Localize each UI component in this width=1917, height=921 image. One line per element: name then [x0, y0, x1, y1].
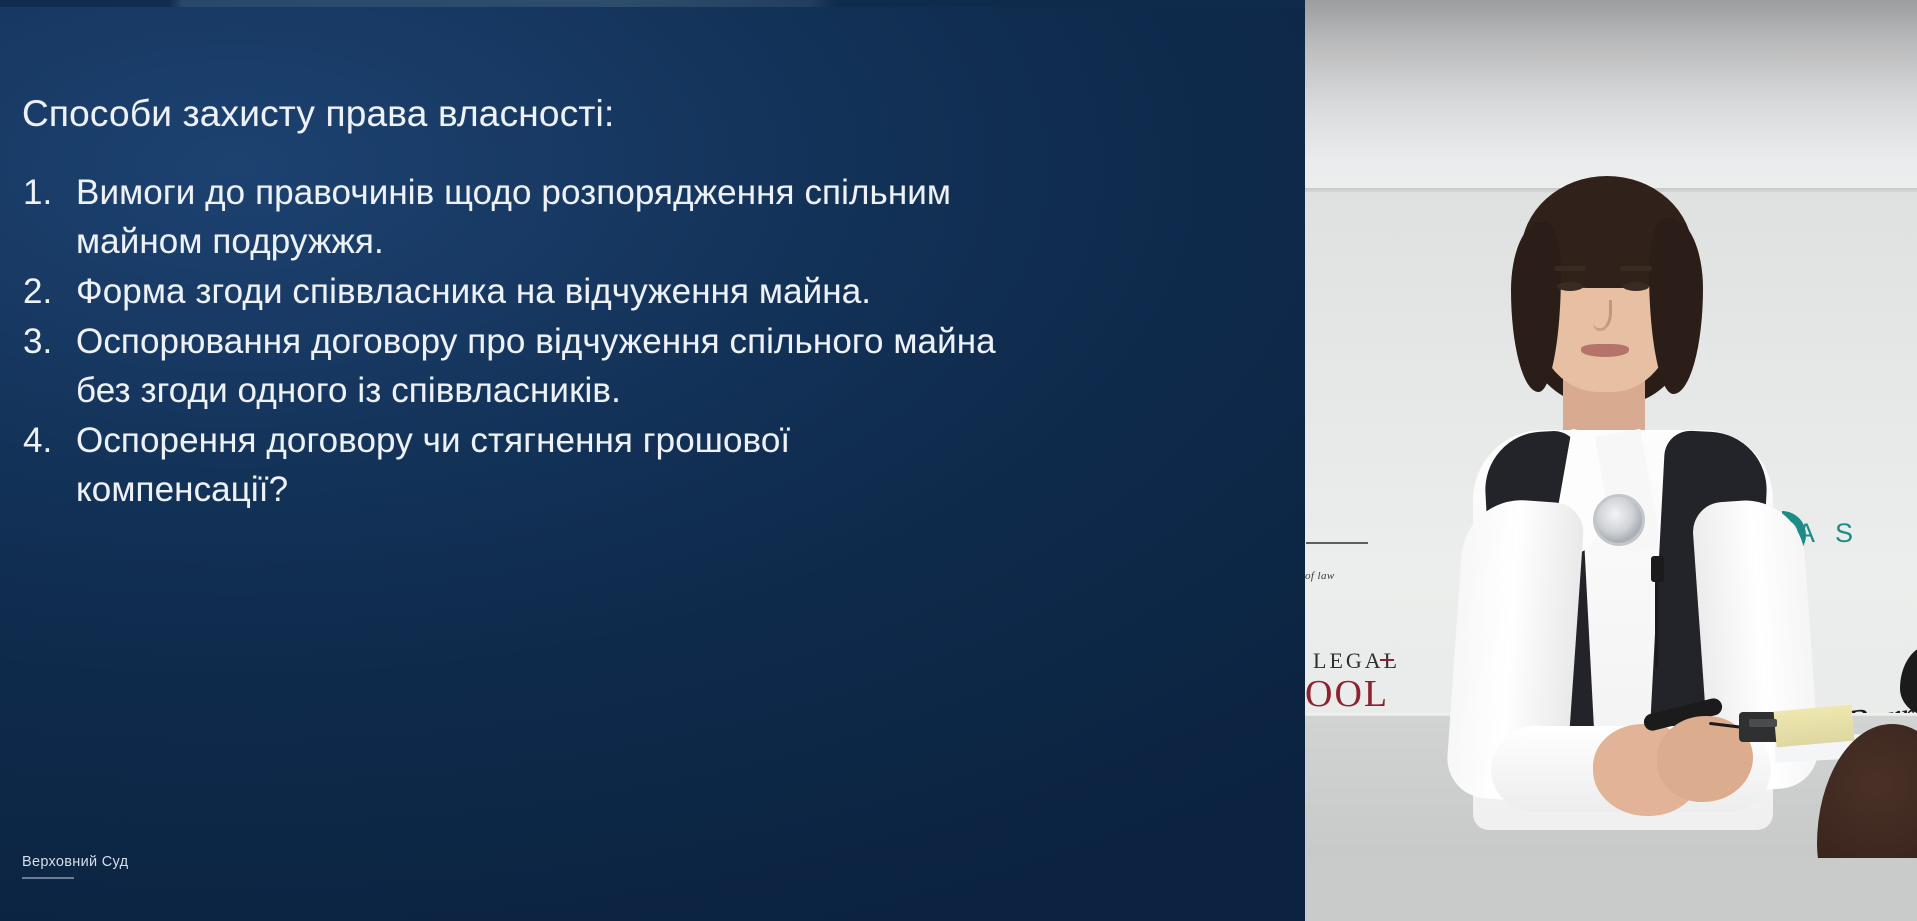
- list-item-line: Оспорення договору чи стягнення грошової: [76, 416, 790, 465]
- speaker-figure: [1305, 0, 1917, 921]
- list-item-line: майном подружжя.: [76, 217, 951, 266]
- list-item-line: без згоди одного із співвласників.: [76, 366, 996, 415]
- list-item-text: Вимоги до правочинів щодо розпорядження …: [76, 168, 951, 266]
- slide-numbered-list: 1. Вимоги до правочинів щодо розпоряджен…: [18, 168, 1048, 515]
- presentation-slide: Способи захисту права власності: 1. Вимо…: [0, 0, 1305, 921]
- screen-root: Способи захисту права власності: 1. Вимо…: [0, 0, 1917, 921]
- speaker-eyebrow-right: [1620, 266, 1652, 271]
- list-item-number: 1.: [18, 168, 76, 217]
- speaker-eye-left: [1557, 282, 1583, 291]
- list-item-number: 4.: [18, 416, 76, 465]
- slide-footer-rule: [22, 877, 74, 879]
- list-item-line: компенсації?: [76, 465, 790, 514]
- lavalier-mic-wire: [1655, 578, 1658, 668]
- slide-footer-logo: Верховний Суд: [22, 854, 342, 879]
- desk-mic-grill: [1749, 719, 1777, 727]
- slide-title: Способи захисту права власності:: [22, 93, 614, 135]
- speaker-brooch: [1593, 494, 1645, 546]
- list-item-text: Оспорювання договору про відчуження спіл…: [76, 317, 996, 415]
- list-item-text: Форма згоди співвласника на відчуження м…: [76, 267, 871, 316]
- list-item-line: Вимоги до правочинів щодо розпорядження …: [76, 168, 951, 217]
- video-feed-panel: of law LEGAL OOL C A S Barr: [1305, 0, 1917, 921]
- list-item: 1. Вимоги до правочинів щодо розпоряджен…: [18, 168, 1048, 266]
- slide-footer-label: Верховний Суд: [22, 854, 342, 870]
- desk-notepad: [1774, 705, 1855, 748]
- slide-top-artifact-strip: [0, 0, 1305, 7]
- list-item-line: Форма згоди співвласника на відчуження м…: [76, 267, 871, 316]
- list-item-text: Оспорення договору чи стягнення грошової…: [76, 416, 790, 514]
- video-bottom-band: [1305, 858, 1917, 921]
- speaker-eyebrow-left: [1554, 266, 1586, 271]
- list-item-line: Оспорювання договору про відчуження спіл…: [76, 317, 996, 366]
- list-item: 2. Форма згоди співвласника на відчуженн…: [18, 267, 1048, 316]
- list-item-number: 2.: [18, 267, 76, 316]
- speaker-eye-right: [1623, 282, 1649, 291]
- list-item: 3. Оспорювання договору про відчуження с…: [18, 317, 1048, 415]
- list-item: 4. Оспорення договору чи стягнення грошо…: [18, 416, 1048, 514]
- speaker-mouth: [1581, 344, 1629, 357]
- list-item-number: 3.: [18, 317, 76, 366]
